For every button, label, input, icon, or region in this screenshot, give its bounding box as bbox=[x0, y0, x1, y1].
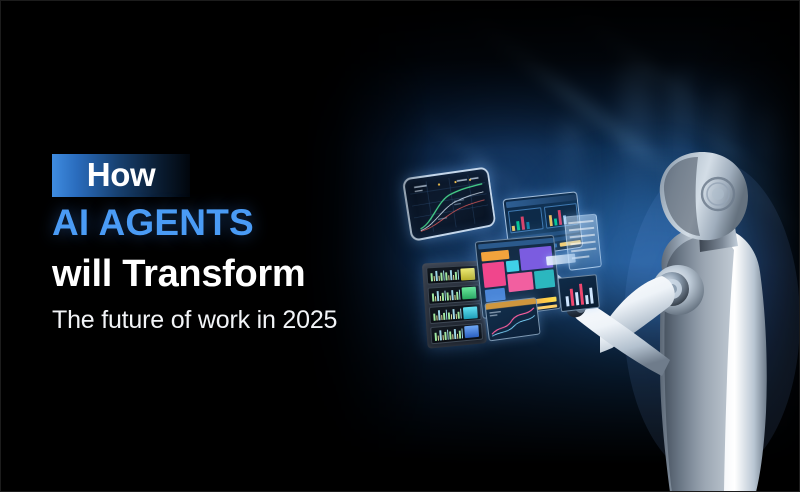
headline-line-transform: will Transform bbox=[52, 255, 305, 293]
panel-line bbox=[568, 220, 593, 224]
app-tile-magenta bbox=[482, 261, 506, 288]
app-footer-accent bbox=[537, 304, 558, 310]
led-strip bbox=[430, 269, 459, 282]
bay-indicator-panel bbox=[460, 267, 475, 280]
bay-indicator-panel bbox=[463, 306, 478, 319]
dashboard-bar bbox=[512, 226, 516, 231]
bay-indicator-panel bbox=[464, 326, 479, 339]
panel-line bbox=[570, 234, 595, 239]
banner: How AI AGENTS will Transform The future … bbox=[0, 0, 800, 492]
headline-subtitle: The future of work in 2025 bbox=[52, 308, 337, 333]
robot-forearm-tube bbox=[573, 298, 670, 376]
panel-line bbox=[571, 248, 596, 253]
chart-bar bbox=[570, 289, 575, 306]
server-bay bbox=[427, 284, 480, 304]
headline-kicker: How bbox=[87, 158, 155, 191]
headline-line-agents: AI AGENTS bbox=[52, 204, 254, 241]
bar-chart-screen[interactable] bbox=[558, 274, 600, 312]
led-strip bbox=[432, 288, 461, 301]
chart-bar bbox=[585, 295, 589, 304]
chart-bar bbox=[589, 288, 593, 304]
graph-card-screen[interactable] bbox=[484, 297, 540, 341]
app-tile-pink bbox=[507, 272, 534, 293]
chart-bar bbox=[566, 296, 570, 306]
led-strip bbox=[434, 327, 463, 340]
panel-line bbox=[570, 241, 595, 246]
server-bay bbox=[429, 303, 482, 324]
graph-card-svg bbox=[485, 298, 539, 340]
panel-line bbox=[569, 227, 594, 232]
server-bay bbox=[430, 323, 483, 345]
app-tile-teal bbox=[534, 269, 555, 289]
app-tile-cyan bbox=[506, 260, 520, 272]
led-strip bbox=[433, 308, 462, 321]
chart-bar bbox=[575, 292, 579, 305]
chart-bar bbox=[579, 284, 584, 305]
kicker-highlight: How bbox=[52, 154, 190, 197]
server-bay bbox=[426, 265, 479, 285]
app-tile-orange bbox=[481, 250, 510, 262]
headline-block: How AI AGENTS will Transform The future … bbox=[0, 0, 400, 492]
bay-indicator-panel bbox=[462, 287, 477, 300]
